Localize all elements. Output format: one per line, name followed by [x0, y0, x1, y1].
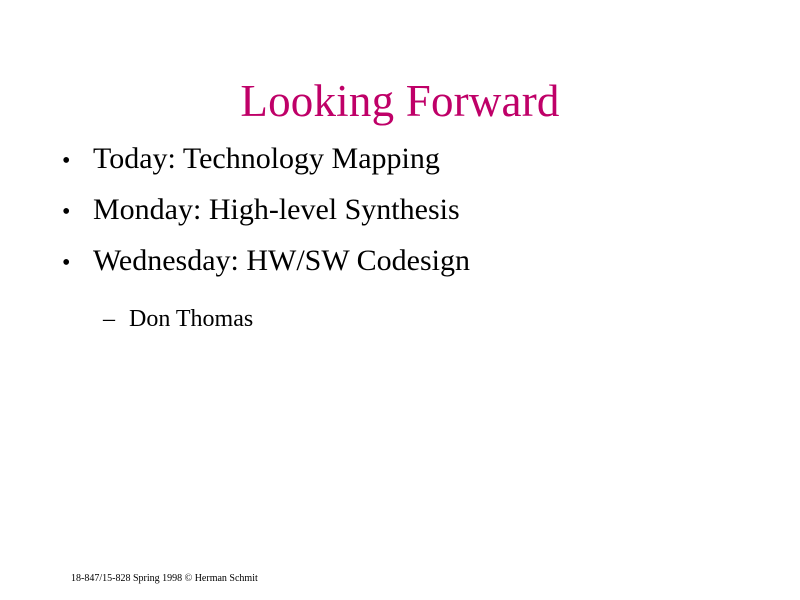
footer-text: 18-847/15-828 Spring 1998 © Herman Schmi… — [71, 573, 258, 585]
bullet-marker-icon: • — [62, 244, 93, 282]
sub-list-item: – Don Thomas — [103, 303, 742, 339]
list-item-label: Today: Technology Mapping — [93, 140, 440, 178]
slide: Looking Forward • Today: Technology Mapp… — [0, 0, 800, 600]
dash-marker-icon: – — [103, 303, 129, 335]
bullet-list: • Today: Technology Mapping • Monday: Hi… — [62, 140, 742, 339]
list-item: • Monday: High-level Synthesis — [62, 191, 742, 242]
bullet-marker-icon: • — [62, 142, 93, 180]
list-item: • Today: Technology Mapping — [62, 140, 742, 191]
list-item-label: Wednesday: HW/SW Codesign — [93, 242, 470, 280]
list-item: • Wednesday: HW/SW Codesign — [62, 242, 742, 293]
sub-list-item-label: Don Thomas — [129, 303, 253, 335]
page-title: Looking Forward — [0, 74, 800, 128]
list-item-label: Monday: High-level Synthesis — [93, 191, 460, 229]
bullet-marker-icon: • — [62, 193, 93, 231]
